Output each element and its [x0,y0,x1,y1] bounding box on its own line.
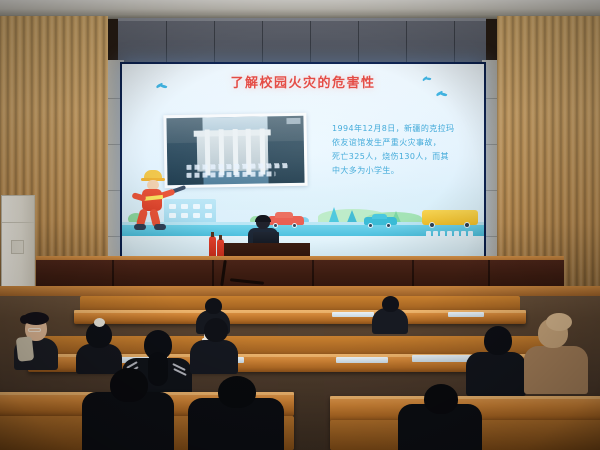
stage-floor-strip [0,286,600,296]
paper-on-desk [448,312,484,317]
scarf [16,336,34,362]
student-dark-jacket-8 [188,376,284,450]
student-tan-coat [524,318,588,388]
upper-panel-wall [118,18,486,64]
projection-screen: 了解校园火灾的危害性 [120,62,486,258]
friendship-hall-photo [163,113,307,188]
student-dark-jacket-5 [190,318,238,366]
slide-content: 了解校园火灾的危害性 [122,64,484,256]
paper-on-desk [412,355,472,362]
teal-car [364,214,397,228]
firefighter-cartoon [128,170,180,232]
white-cabinet [1,195,35,291]
slide-body-line: 依友谊馆发生严重火灾事故， [332,136,480,150]
slide-body-text: 1994年12月8日，新疆的克拉玛 依友谊馆发生严重火灾事故， 死亡325人，烧… [332,122,480,178]
student-dark-jacket-7 [82,368,174,450]
paper-on-desk [332,312,374,317]
student-dark-jacket-3 [76,322,122,368]
glasses [28,328,41,332]
lecture-hall-scene: 了解校园火灾的危害性 [0,0,600,450]
slide-body-line: 中大多为小学生。 [332,164,480,178]
fire-extinguisher [209,236,216,258]
student-dark-jacket-2 [372,296,408,330]
paper-on-desk [336,357,388,363]
student-dark-jacket-6 [466,326,526,388]
upper-wall-edge [118,18,486,21]
slide-title: 了解校园火灾的危害性 [122,72,484,91]
slide-body-line: 死亡325人，烧伤130人，而其 [332,150,480,164]
slide-body-line: 1994年12月8日，新疆的克拉玛 [332,122,480,136]
curtain-right [497,16,600,292]
student-dark-jacket-9 [398,384,482,450]
